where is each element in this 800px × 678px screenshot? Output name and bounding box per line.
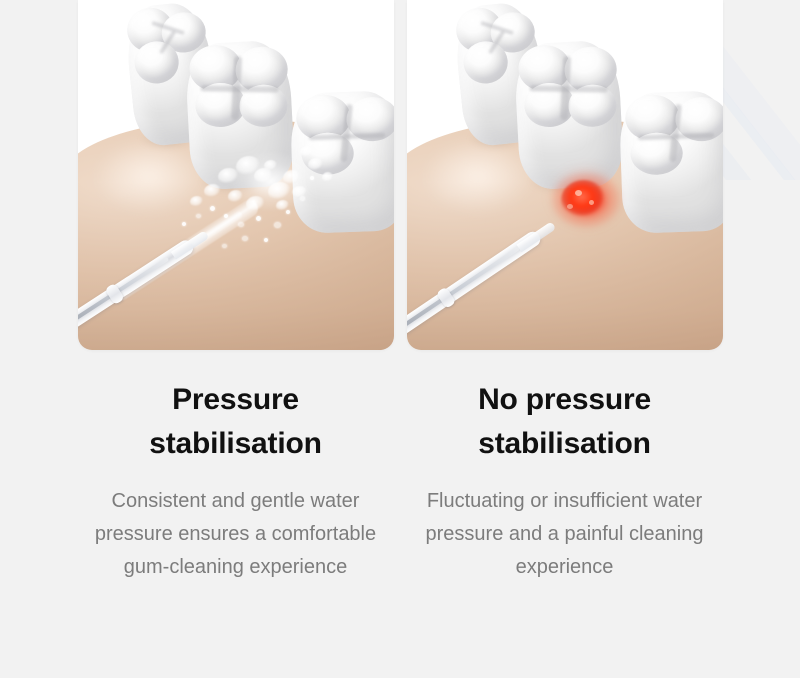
panel-description: Consistent and gentle water pressure ens… [90,485,382,585]
caption-no-pressure-stabilisation: No pressure stabilisation Fluctuating or… [407,350,723,585]
illustration-card-no-pressure-stabilisation [407,0,723,350]
inflammation-spark [589,200,594,205]
panel-pressure-stabilisation: Pressure stabilisation Consistent and ge… [78,0,394,678]
panel-description: Fluctuating or insufficient water pressu… [419,485,711,585]
inflammation-spark [575,190,582,196]
comparison-container: Pressure stabilisation Consistent and ge… [0,0,800,678]
panel-no-pressure-stabilisation: No pressure stabilisation Fluctuating or… [407,0,723,678]
water-flosser-gentle-spray-illustration [78,0,394,350]
illustration-card-pressure-stabilisation [78,0,394,350]
water-flosser-gum-irritation-illustration [407,0,723,350]
inflammation-spark [567,204,573,209]
gum-inflammation-core [561,180,607,220]
panel-title: No pressure stabilisation [413,378,717,465]
panel-title: Pressure stabilisation [84,378,388,465]
caption-pressure-stabilisation: Pressure stabilisation Consistent and ge… [78,350,394,585]
